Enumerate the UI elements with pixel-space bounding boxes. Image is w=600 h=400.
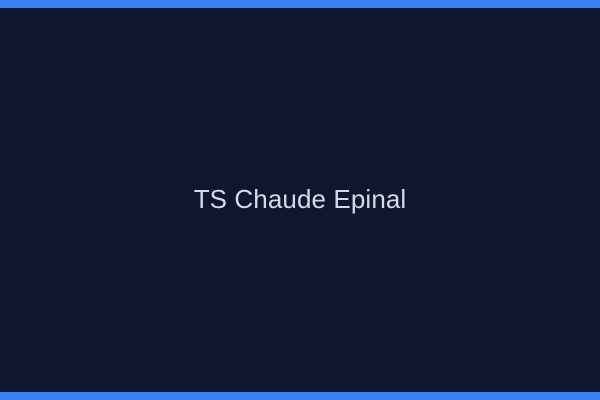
bottom-accent-band [0, 392, 600, 400]
top-accent-band [0, 0, 600, 8]
placeholder-canvas: TS Chaude Epinal [0, 0, 600, 400]
placeholder-body: TS Chaude Epinal [0, 8, 600, 392]
placeholder-caption: TS Chaude Epinal [194, 184, 407, 215]
